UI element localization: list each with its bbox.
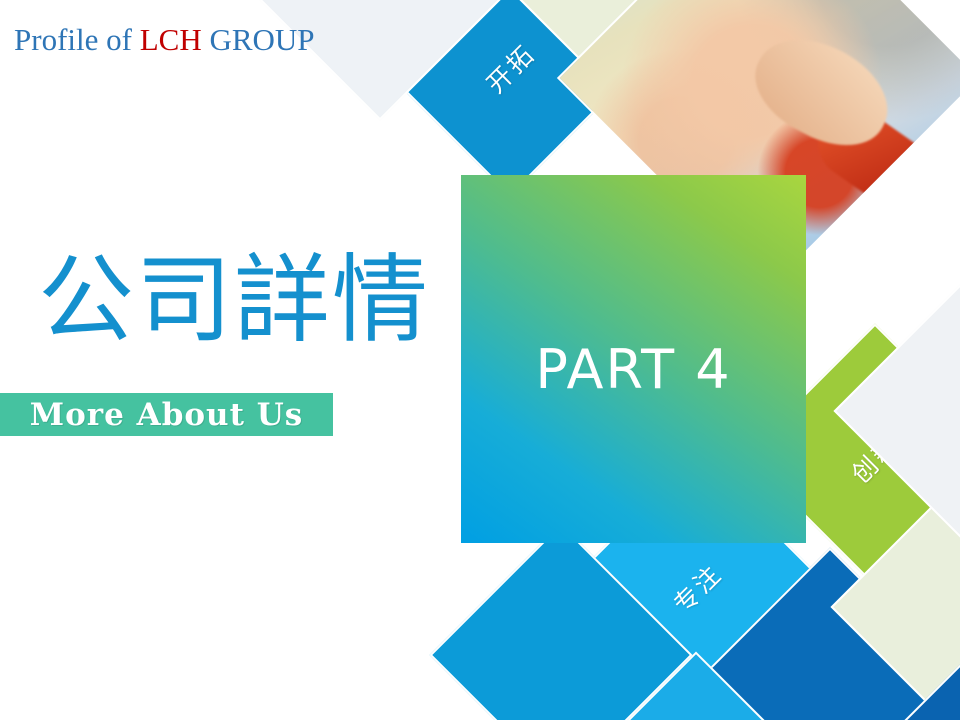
page-title: 公司詳情 xyxy=(38,252,430,348)
diamond-darkblue-edge xyxy=(831,661,960,720)
slide-canvas: 开拓创新专注 PART 4 Profile of LCH GROUP 公司詳情 … xyxy=(0,0,960,720)
header-brand-line: Profile of LCH GROUP xyxy=(14,22,315,58)
part-label: PART 4 xyxy=(535,338,731,401)
diamond-darkblue-bottom xyxy=(698,547,960,720)
diamond-pale-left xyxy=(248,0,511,121)
part-number-card: PART 4 xyxy=(461,175,806,543)
diamond-pale-right xyxy=(833,279,960,542)
header-brand-accent: LCH xyxy=(140,22,202,57)
diamond-cream-right xyxy=(830,475,960,720)
subtitle-label: More About Us xyxy=(30,397,303,433)
header-prefix: Profile of xyxy=(14,22,140,57)
diamond-blue-bottomedge xyxy=(564,651,827,720)
header-brand-rest: GROUP xyxy=(202,22,315,57)
subtitle-banner: More About Us xyxy=(0,393,333,436)
diamond-blue-midleft xyxy=(429,523,692,720)
